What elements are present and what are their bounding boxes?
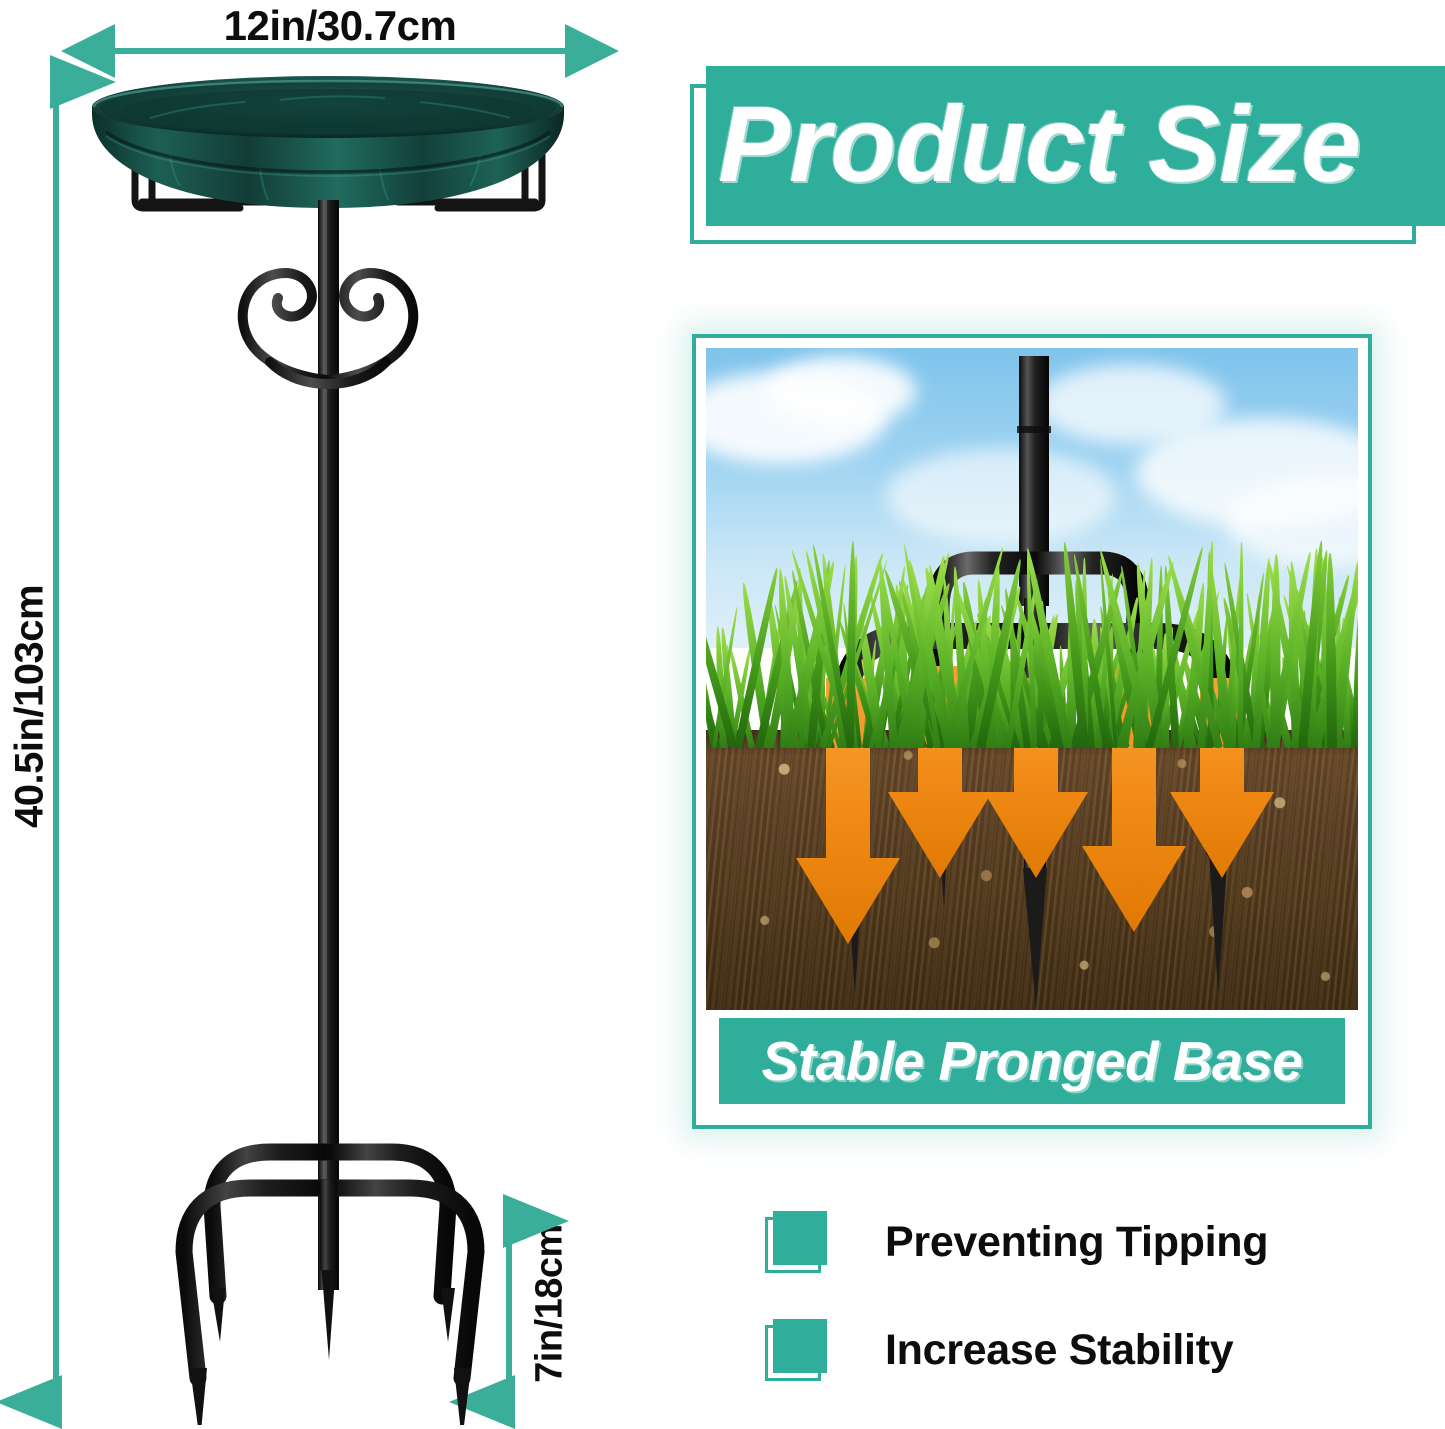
square-bullet-icon <box>765 1319 827 1381</box>
center-pole <box>318 200 339 1290</box>
feature-item-increase-stability: Increase Stability <box>765 1296 1385 1404</box>
square-bullet-icon <box>765 1211 827 1273</box>
feature-list: Preventing Tipping Increase Stability <box>765 1188 1385 1404</box>
center-prong <box>320 1180 337 1270</box>
feature-label: Increase Stability <box>885 1326 1233 1375</box>
bird-bath-product-illustration <box>80 60 600 1425</box>
page-title: Product Size <box>718 64 1445 224</box>
prong-tips <box>190 1250 471 1425</box>
bird-bath-bowl <box>92 76 564 208</box>
pronged-base-photo-card: Stable Pronged Base <box>692 334 1372 1129</box>
height-dimension-arrow <box>42 66 70 1418</box>
photo-caption-bar: Stable Pronged Base <box>716 1015 1348 1107</box>
photo-frame: Stable Pronged Base <box>692 334 1372 1129</box>
photo-scene: Stable Pronged Base <box>706 348 1358 1115</box>
infographic-canvas: 12in/30.7cm 40.5in/103cm 7in/18cm <box>0 0 1445 1425</box>
feature-label: Preventing Tipping <box>885 1218 1268 1267</box>
photo-caption-text: Stable Pronged Base <box>762 1029 1303 1093</box>
product-size-banner: Product Size <box>690 58 1445 223</box>
feature-item-preventing-tipping: Preventing Tipping <box>765 1188 1385 1296</box>
